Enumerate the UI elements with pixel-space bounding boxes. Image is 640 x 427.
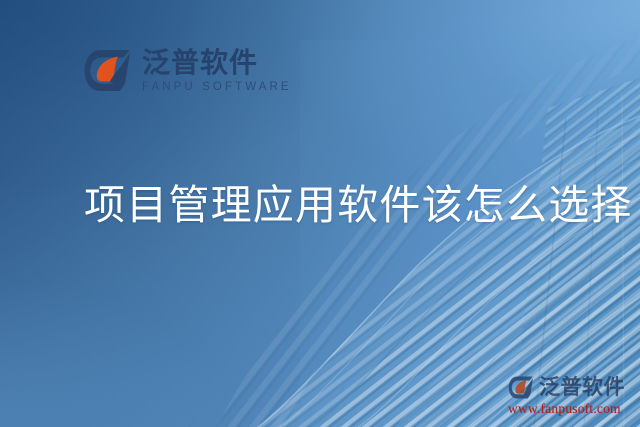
fanpu-logo-mark-icon [84, 49, 131, 92]
fanpu-watermark-mark-icon [508, 376, 534, 399]
watermark-brand-name: 泛普软件 [539, 376, 625, 399]
brand-name-en: FANPU SOFTWARE [142, 80, 292, 94]
brand-logo: 泛普软件 FANPU SOFTWARE [84, 47, 292, 94]
brand-name-cn: 泛普软件 [142, 48, 292, 78]
watermark-url: www.fanpusoft.com [508, 401, 640, 417]
watermark-brand-row: 泛普软件 [508, 374, 640, 400]
headline-title: 项目管理应用软件该怎么选择 [84, 182, 633, 228]
promo-banner: 泛普软件 FANPU SOFTWARE 项目管理应用软件该怎么选择 泛普软件 w… [0, 0, 640, 427]
watermark: 泛普软件 www.fanpusoft.com [508, 374, 640, 420]
brand-logo-text: 泛普软件 FANPU SOFTWARE [142, 48, 292, 94]
